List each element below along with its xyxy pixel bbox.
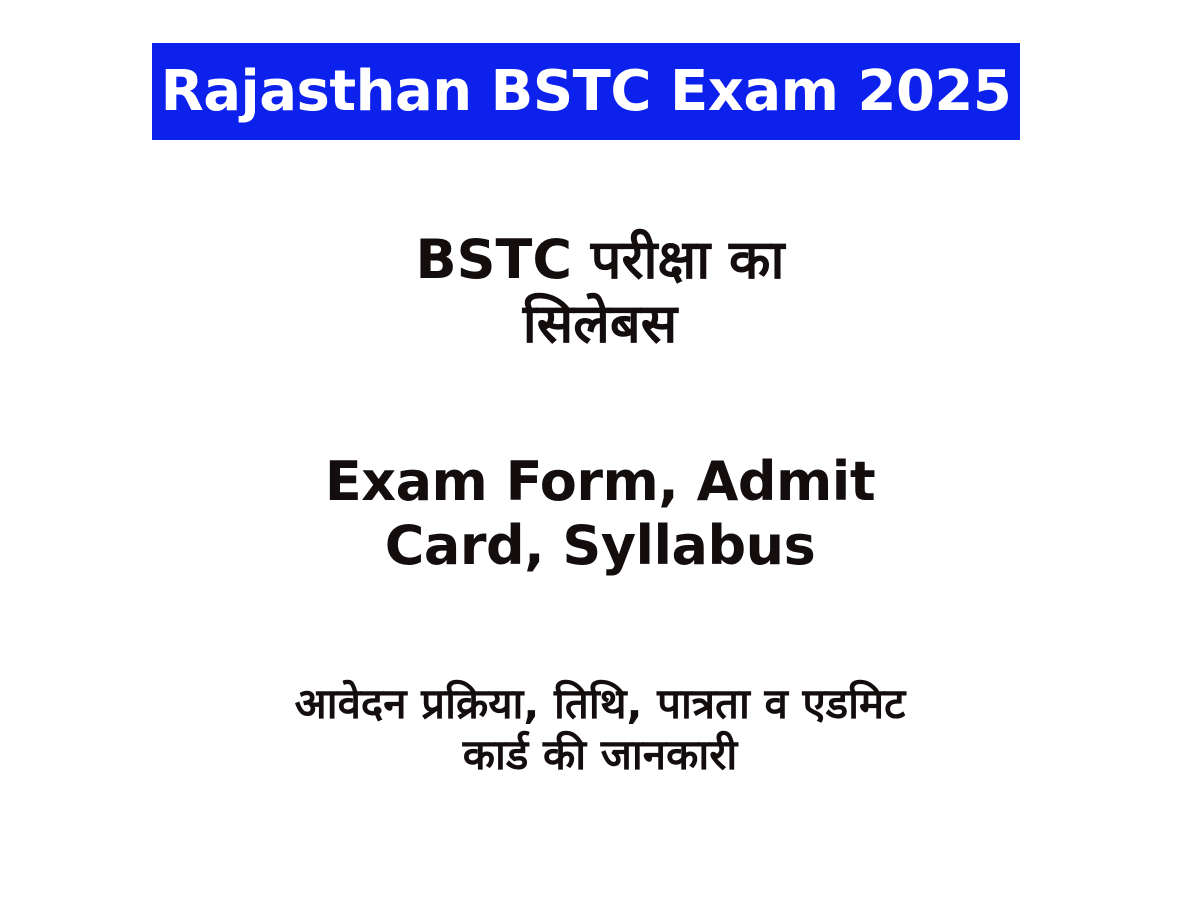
heading-hindi: BSTC परीक्षा का सिलेबस (0, 228, 1200, 355)
subtext-hindi: आवेदन प्रक्रिया, तिथि, पात्रता व एडमिट क… (0, 678, 1200, 780)
poster-canvas: Rajasthan BSTC Exam 2025 BSTC परीक्षा का… (0, 0, 1200, 900)
subtext-hindi-line-2: कार्ड की जानकारी (0, 729, 1200, 780)
banner-title-text: Rajasthan BSTC Exam 2025 (161, 64, 1012, 120)
heading-hindi-line-2: सिलेबस (0, 292, 1200, 356)
heading-english-line-2: Card, Syllabus (0, 514, 1200, 578)
heading-english: Exam Form, Admit Card, Syllabus (0, 450, 1200, 577)
heading-hindi-line-1: BSTC परीक्षा का (0, 228, 1200, 292)
heading-english-line-1: Exam Form, Admit (0, 450, 1200, 514)
poster-content: BSTC परीक्षा का सिलेबस Exam Form, Admit … (0, 140, 1200, 900)
subtext-hindi-line-1: आवेदन प्रक्रिया, तिथि, पात्रता व एडमिट (0, 678, 1200, 729)
title-banner: Rajasthan BSTC Exam 2025 (152, 43, 1020, 140)
